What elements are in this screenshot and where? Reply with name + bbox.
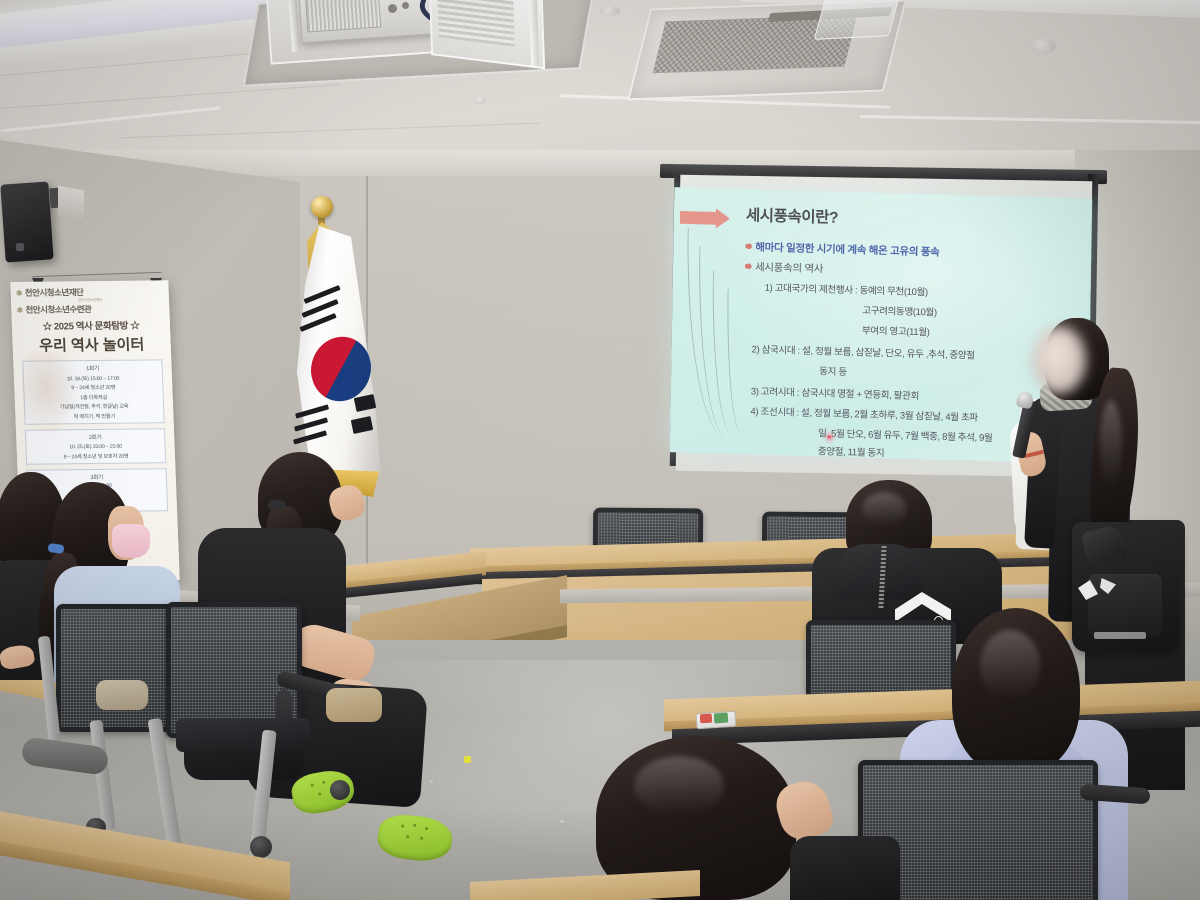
- flag-finial: [311, 196, 333, 218]
- croc-hole: [318, 792, 321, 795]
- bag-on-chair: [96, 680, 148, 710]
- slide-bullet-2: 세시풍속의 역사: [755, 259, 823, 276]
- floor-speck: [430, 780, 433, 783]
- session-audience: 9 ~ 24세 청소년 및 보호자 20명: [29, 452, 163, 460]
- backpack-logo: [1094, 632, 1146, 639]
- slide-title: 세시풍속이란?: [746, 203, 839, 228]
- poster-program-year: ☆ 2025 역사 문화탐방 ☆: [12, 317, 171, 333]
- poster-org-top: 천안시청소년재단: [25, 286, 84, 299]
- hair-highlight: [634, 756, 724, 816]
- phone-screen-content: [700, 714, 713, 724]
- backpack-pocket: [1088, 574, 1162, 637]
- yellow-object-on-floor: [464, 756, 471, 763]
- wall-bracket: [58, 186, 84, 221]
- poster-org-bottom: 천안시청소년수련관: [25, 303, 91, 316]
- backpack-strap: [1080, 524, 1127, 567]
- poster-org-row-2: ⚛ 천안시청소년수련관: [11, 302, 170, 316]
- slide-line: 동지 등: [819, 363, 847, 378]
- laser-pointer-dot: [828, 436, 831, 439]
- hair-highlight: [862, 492, 906, 526]
- chair-seat: [176, 718, 310, 752]
- croc-hole: [425, 827, 428, 830]
- slide-line: 고구려의동맹(10월): [862, 302, 937, 318]
- projector-knob: [402, 2, 409, 9]
- hair-highlight: [980, 630, 1040, 700]
- croc-hole: [413, 824, 416, 827]
- foundation-logo-icon: ⚛: [15, 288, 22, 297]
- phone-screen-content: [714, 713, 729, 724]
- croc-hole: [322, 780, 325, 783]
- classroom-photo: ⚛ 천안시청소년재단 천안시청소년재단 ⚛ 천안시청소년수련관 ☆ 2025 역…: [0, 0, 1200, 900]
- center-logo-icon: ⚛: [16, 305, 23, 314]
- ac-deflector: [814, 0, 901, 40]
- hair-tie: [268, 500, 286, 510]
- speaker-logo: [16, 243, 25, 252]
- croc-hole: [420, 837, 423, 840]
- ceiling-fixture: [474, 96, 486, 104]
- croc-hole: [406, 835, 409, 838]
- student-foreground-sleeve: [790, 836, 900, 900]
- face-mask: [112, 524, 150, 558]
- chair-caster: [330, 780, 350, 800]
- wall-speaker: [0, 181, 53, 262]
- slide-line: 부여의 영고(11월): [862, 322, 930, 338]
- session-date: 10. 25.(토) 15:00 ~ 21:00: [28, 442, 162, 450]
- chair-left-1[interactable]: [56, 604, 184, 732]
- hair-highlight: [1100, 400, 1122, 490]
- ceiling-fixture: [1030, 38, 1056, 54]
- backpack[interactable]: [1072, 522, 1180, 652]
- poster-decoration: [21, 351, 84, 442]
- croc-hole: [310, 784, 313, 787]
- croc-hole: [401, 824, 404, 827]
- chair-caster: [250, 836, 272, 858]
- presenter-face-blurred: [1032, 326, 1086, 394]
- projector-knob: [388, 4, 397, 13]
- ceiling-fixture: [600, 6, 620, 16]
- bag-under-table: [326, 688, 382, 722]
- projector-grille: [305, 0, 381, 33]
- floor-speck: [560, 820, 564, 823]
